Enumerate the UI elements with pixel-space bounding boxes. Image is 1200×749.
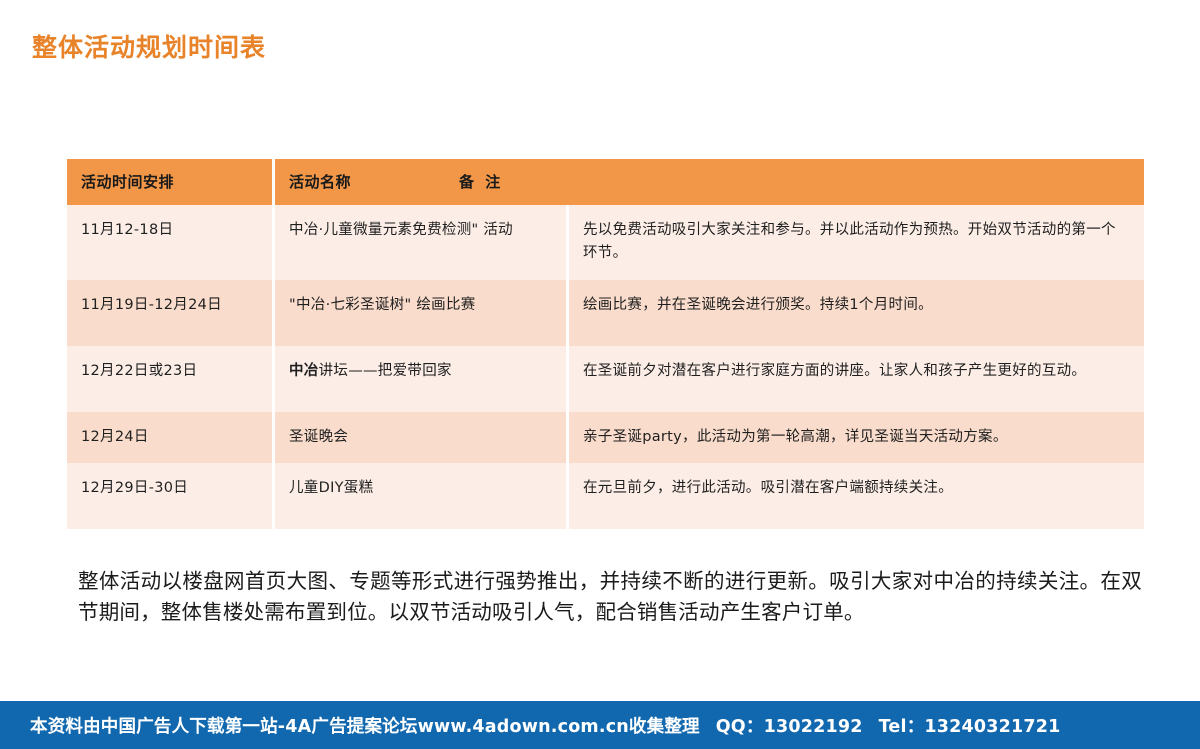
cell-date: 12月29日-30日	[67, 463, 272, 529]
cell-note: 绘画比赛，并在圣诞晚会进行颁奖。持续1个月时间。	[569, 280, 1144, 346]
cell-activity-name: 中冶·儿童微量元素免费检测" 活动	[275, 205, 566, 280]
cell-date: 12月24日	[67, 412, 272, 463]
footer-bar: 本资料由中国广告人下载第一站-4A广告提案论坛www.4adown.com.cn…	[0, 701, 1200, 749]
footer-text: 本资料由中国广告人下载第一站-4A广告提案论坛www.4adown.com.cn…	[0, 713, 1061, 738]
cell-note: 先以免费活动吸引大家关注和参与。并以此活动作为预热。开始双节活动的第一个环节。	[569, 205, 1144, 280]
cell-date: 11月12-18日	[67, 205, 272, 280]
cell-activity-name: "中冶·七彩圣诞树" 绘画比赛	[275, 280, 566, 346]
table-row: 12月22日或23日 中冶讲坛——把爱带回家 在圣诞前夕对潜在客户进行家庭方面的…	[67, 346, 1144, 412]
table-row: 11月19日-12月24日 "中冶·七彩圣诞树" 绘画比赛 绘画比赛，并在圣诞晚…	[67, 280, 1144, 346]
table-header: 活动时间安排 活动名称备 注	[67, 159, 1144, 205]
cell-activity-name: 圣诞晚会	[275, 412, 566, 463]
table-body: 11月12-18日 中冶·儿童微量元素免费检测" 活动 先以免费活动吸引大家关注…	[67, 205, 1144, 529]
cell-note: 亲子圣诞party，此活动为第一轮高潮，详见圣诞当天活动方案。	[569, 412, 1144, 463]
cell-activity-name: 中冶讲坛——把爱带回家	[275, 346, 566, 412]
footer-qq: QQ：13022192	[716, 717, 863, 737]
column-header-note-label: 备 注	[459, 171, 503, 192]
footer-tel: Tel：13240321721	[879, 717, 1061, 737]
page-title: 整体活动规划时间表	[32, 28, 266, 64]
footer-source-text: 本资料由中国广告人下载第一站-4A广告提案论坛www.4adown.com.cn…	[30, 717, 700, 737]
schedule-table: 活动时间安排 活动名称备 注 11月12-18日 中冶·儿童微量元素免费检测" …	[64, 159, 1147, 529]
table-row: 12月24日 圣诞晚会 亲子圣诞party，此活动为第一轮高潮，详见圣诞当天活动…	[67, 412, 1144, 463]
cell-activity-name-rest: 讲坛——把爱带回家	[319, 363, 452, 379]
table-row: 11月12-18日 中冶·儿童微量元素免费检测" 活动 先以免费活动吸引大家关注…	[67, 205, 1144, 280]
schedule-table-wrapper: 活动时间安排 活动名称备 注 11月12-18日 中冶·儿童微量元素免费检测" …	[64, 159, 1141, 529]
column-header-name-note: 活动名称备 注	[275, 159, 1144, 205]
cell-note: 在元旦前夕，进行此活动。吸引潜在客户端额持续关注。	[569, 463, 1144, 529]
cell-activity-name-emphasis: 中冶	[289, 363, 319, 379]
cell-date: 12月22日或23日	[67, 346, 272, 412]
table-row: 12月29日-30日 儿童DIY蛋糕 在元旦前夕，进行此活动。吸引潜在客户端额持…	[67, 463, 1144, 529]
table-header-row: 活动时间安排 活动名称备 注	[67, 159, 1144, 205]
slide-canvas: 整体活动规划时间表 活动时间安排 活动名称备 注 11月12-18日 中冶·儿童…	[0, 0, 1200, 749]
cell-note: 在圣诞前夕对潜在客户进行家庭方面的讲座。让家人和孩子产生更好的互动。	[569, 346, 1144, 412]
column-header-name-label: 活动名称	[289, 171, 351, 192]
summary-paragraph: 整体活动以楼盘网首页大图、专题等形式进行强势推出，并持续不断的进行更新。吸引大家…	[78, 566, 1142, 628]
column-header-date: 活动时间安排	[67, 159, 272, 205]
cell-date: 11月19日-12月24日	[67, 280, 272, 346]
cell-activity-name: 儿童DIY蛋糕	[275, 463, 566, 529]
